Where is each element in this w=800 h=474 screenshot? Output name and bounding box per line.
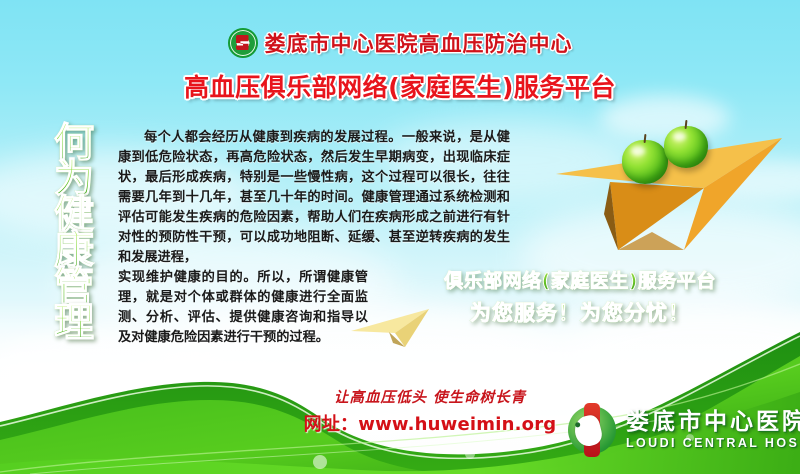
green-apple-right [664, 126, 708, 168]
page-title-secondary: 高血压俱乐部网络(家庭医生)服务平台 [184, 73, 616, 102]
bubble [313, 455, 327, 469]
promo-line-2: 为您服务！为您分忧！ [420, 297, 740, 327]
hospital-logo-text: 娄底市中心医院 LOUDI CENTRAL HOSPITAL [626, 411, 800, 450]
body-paragraph-wide: 每个人都会经历从健康到疾病的发展过程。一般来说，是从健康到低危险状态，再高危险状… [118, 128, 510, 268]
page-title-primary: 娄底市中心医院高血压防治中心 [265, 28, 573, 58]
promo-line-1: 俱乐部网络(家庭医生)服务平台 [420, 266, 740, 293]
poster-canvas: 娄底市中心医院高血压防治中心 高血压俱乐部网络(家庭医生)服务平台 何 为 健 … [0, 0, 800, 474]
header-title-row-1: 娄底市中心医院高血压防治中心 [0, 28, 800, 58]
apple-highlight [673, 132, 686, 141]
promo-block: 俱乐部网络(家庭医生)服务平台 为您服务！为您分忧！ [420, 266, 740, 327]
bubble [465, 449, 475, 459]
loudi-hospital-logo-icon [566, 404, 618, 456]
hospital-emblem-icon [228, 28, 258, 58]
hospital-name-en: LOUDI CENTRAL HOSPITAL [626, 437, 800, 450]
footer-website[interactable]: 网址：www.huweimin.org [300, 410, 560, 436]
green-apple-left [622, 140, 668, 184]
footer-slogan-block: 让高血压低头 使生命树长青 网址：www.huweimin.org [300, 386, 560, 436]
apple-highlight [631, 146, 645, 156]
hospital-name-cn: 娄底市中心医院 [626, 411, 800, 434]
footer-slogan: 让高血压低头 使生命树长青 [300, 386, 560, 407]
hospital-logo: 娄底市中心医院 LOUDI CENTRAL HOSPITAL [566, 404, 800, 456]
vertical-heading: 何 为 健 康 管 理 [48, 124, 100, 340]
header-title-row-2: 高血压俱乐部网络(家庭医生)服务平台 [0, 68, 800, 104]
